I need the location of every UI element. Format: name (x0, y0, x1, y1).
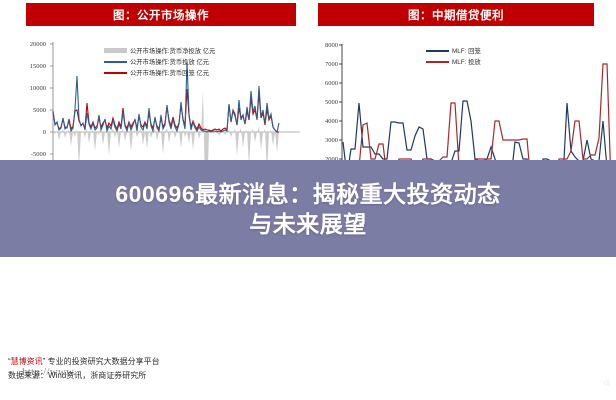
headline-line-2: 与未来展望 (249, 209, 367, 239)
chart-title-left: 图：公开市场操作 (26, 3, 296, 26)
ytick-right-4000: 4000 (304, 118, 338, 125)
quote-close: ” (43, 357, 46, 366)
legend-swatch-area-icon (104, 48, 127, 53)
page-root: 图：公开市场操作 (0, 0, 616, 400)
footer-tagline: 专业的投资研究大数据分享平台 (48, 357, 160, 366)
chart-title-right: 图：中期借贷便利 (318, 3, 594, 26)
legend-item-recall: 公开市场操作:货币回笼 亿元 (104, 68, 215, 77)
legend-label-net-injection: 公开市场操作:货币净投放 亿元 (130, 46, 215, 55)
legend-label-injection: 公开市场操作:货币投放 亿元 (130, 57, 209, 66)
legend-left: 公开市场操作:货币净投放 亿元 公开市场操作:货币投放 亿元 公开市场操作:货币… (104, 46, 215, 77)
legend-label-mlf-injection: MLF: 投放 (452, 57, 481, 66)
legend-swatch-mlf-injection-icon (426, 61, 449, 63)
ytick-right-5000: 5000 (304, 99, 338, 106)
legend-swatch-line-red-icon (104, 72, 127, 74)
legend-label-recall: 公开市场操作:货币回笼 亿元 (130, 68, 209, 77)
footer-brand: 慧博资讯 (11, 357, 43, 366)
ytick-right-6000: 6000 (304, 80, 338, 87)
ytick-right-7000: 7000 (304, 61, 338, 68)
ytick-right-8000: 8000 (304, 42, 338, 49)
headline-overlay-banner: 600696最新消息：揭秘重大投资动态 与未来展望 (0, 160, 616, 257)
legend-item-injection: 公开市场操作:货币投放 亿元 (104, 57, 215, 66)
legend-right: MLF: 回笼 MLF: 投放 (426, 46, 481, 66)
ytick-left-n5000: -5000 (2, 151, 46, 158)
footer-ghost-url-watermark: http://www. (22, 366, 76, 378)
footer-watermark-region: “慧博资讯” 专业的投资研究大数据分享平台 数据来源：Wind资讯，浙商证券研究… (0, 348, 616, 400)
legend-label-mlf-recall: MLF: 回笼 (452, 46, 481, 55)
ytick-left-15000: 15000 (2, 63, 46, 70)
legend-item-mlf-injection: MLF: 投放 (426, 57, 481, 66)
ytick-right-3000: 3000 (304, 137, 338, 144)
legend-item-mlf-recall: MLF: 回笼 (426, 46, 481, 55)
corner-mark-icon: ıll (604, 378, 611, 388)
legend-swatch-mlf-recall-icon (426, 50, 449, 52)
legend-item-net-injection: 公开市场操作:货币净投放 亿元 (104, 46, 215, 55)
headline-line-1: 600696最新消息：揭秘重大投资动态 (115, 179, 500, 209)
ytick-left-0: 0 (2, 129, 46, 136)
ytick-left-5000: 5000 (2, 107, 46, 114)
ytick-left-10000: 10000 (2, 85, 46, 92)
ytick-left-20000: 20000 (2, 41, 46, 48)
legend-swatch-line-blue-icon (104, 61, 127, 63)
